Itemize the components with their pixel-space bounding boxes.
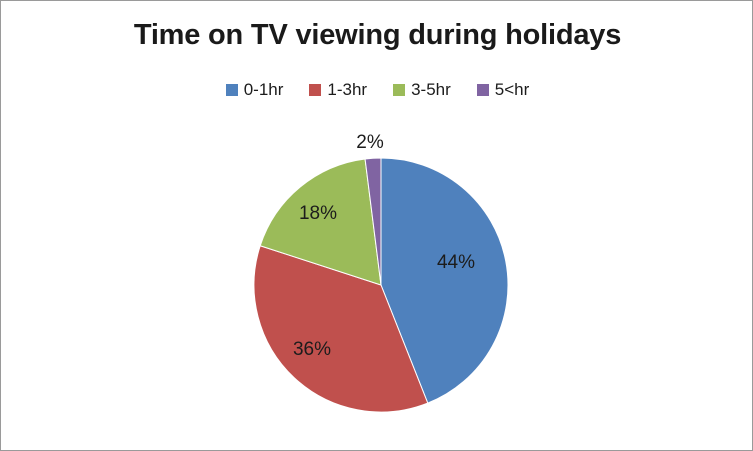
pie-slice[interactable] xyxy=(254,246,428,412)
pie-slice-label: 44% xyxy=(437,252,475,274)
legend-item-label: 1-3hr xyxy=(327,81,367,98)
legend-item-label: 5<hr xyxy=(495,81,530,98)
legend-item[interactable]: 3-5hr xyxy=(393,81,451,98)
pie-slice[interactable] xyxy=(260,159,381,285)
chart-container: Time on TV viewing during holidays 0-1hr… xyxy=(0,0,753,451)
pie-slice[interactable] xyxy=(365,158,381,285)
legend-swatch-icon xyxy=(393,84,405,96)
legend-item[interactable]: 1-3hr xyxy=(309,81,367,98)
legend-swatch-icon xyxy=(477,84,489,96)
legend-item-label: 0-1hr xyxy=(244,81,284,98)
legend-item-label: 3-5hr xyxy=(411,81,451,98)
pie-plot-area: 44%36%18%2% xyxy=(1,1,753,451)
legend-item[interactable]: 0-1hr xyxy=(226,81,284,98)
chart-title: Time on TV viewing during holidays xyxy=(1,19,753,52)
legend-swatch-icon xyxy=(309,84,321,96)
pie-slice[interactable] xyxy=(381,158,508,403)
pie-slice-label: 18% xyxy=(299,203,337,225)
pie-slice-label: 36% xyxy=(293,339,331,361)
chart-legend: 0-1hr1-3hr3-5hr5<hr xyxy=(1,81,753,98)
pie-svg xyxy=(1,1,753,451)
legend-item[interactable]: 5<hr xyxy=(477,81,530,98)
pie-slice-label: 2% xyxy=(356,132,383,154)
legend-swatch-icon xyxy=(226,84,238,96)
